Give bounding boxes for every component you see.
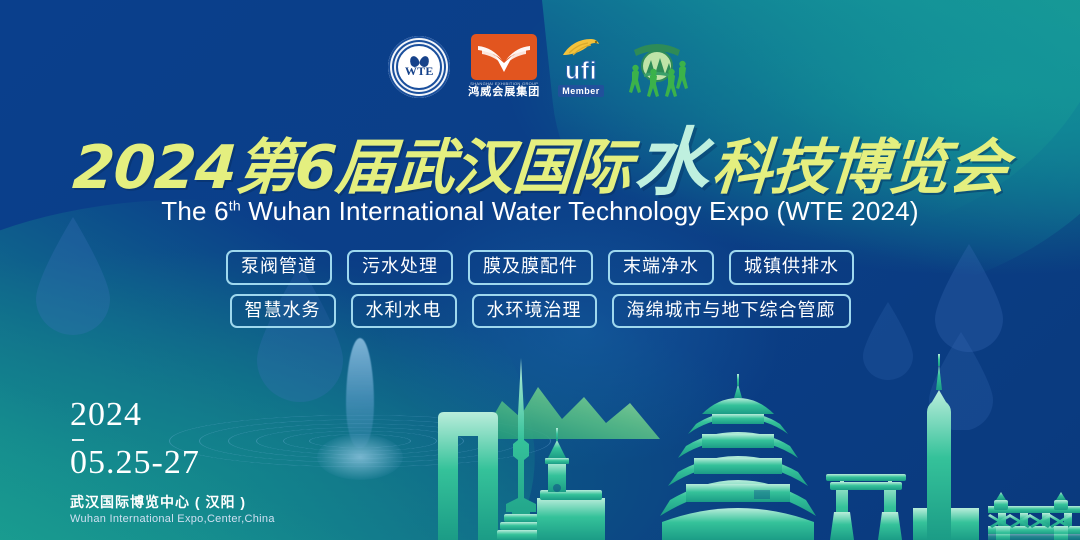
event-date-block: 2024 05.25-27 武汉国际博览中心 ( 汉阳 ) Wuhan Inte… [70, 398, 275, 525]
subtitle-rest: Wuhan International Water Technology Exp… [241, 196, 919, 226]
event-year: 2024 [70, 398, 275, 432]
venue-name-en: Wuhan International Expo,Center,China [70, 513, 275, 525]
tag-pump-valve-pipeline[interactable]: 泵阀管道 [226, 250, 332, 285]
headline: 2024第6届武汉国际水科技博览会 [0, 126, 1080, 200]
venue-name-cn: 武汉国际博览中心 ( 汉阳 ) [70, 492, 275, 512]
expo-poster: WTE SHANGHAI EXHIBITION GROUP 鸿威会展集团 [0, 0, 1080, 540]
headline-water-char: 水 [628, 126, 714, 200]
tag-sponge-city-utility-tunnel[interactable]: 海绵城市与地下综合管廊 [612, 294, 851, 329]
wings-mark-icon [476, 40, 532, 74]
tag-smart-water[interactable]: 智慧水务 [230, 294, 336, 329]
category-tags: 泵阀管道 污水处理 膜及膜配件 末端净水 城镇供排水 智慧水务 水利水电 水环境… [0, 250, 1080, 328]
tag-water-environment-governance[interactable]: 水环境治理 [472, 294, 597, 329]
hongwei-logo: SHANGHAI EXHIBITION GROUP 鸿威会展集团 [468, 34, 540, 100]
ufi-member-badge: Member [558, 85, 604, 97]
ufi-logo: ufi Member [558, 37, 604, 97]
event-dates: 05.25-27 [70, 446, 275, 480]
green-association-logo [622, 36, 692, 98]
wte-logo: WTE [388, 36, 450, 98]
date-divider [72, 439, 84, 441]
tag-sewage-treatment[interactable]: 污水处理 [347, 250, 453, 285]
wte-roundel-icon: WTE [388, 36, 450, 98]
hongwei-wings-icon [471, 34, 537, 80]
wte-logo-text: WTE [405, 65, 434, 77]
ufi-bird-icon [561, 37, 601, 59]
headline-part-1: 2024第6届武汉国际 [71, 138, 633, 198]
subtitle: The 6th Wuhan International Water Techno… [0, 196, 1080, 227]
category-tags-row-2: 智慧水务 水利水电 水环境治理 海绵城市与地下综合管廊 [230, 294, 851, 329]
green-figures-emblem-icon [622, 36, 692, 98]
tag-membranes-and-parts[interactable]: 膜及膜配件 [468, 250, 593, 285]
ufi-logo-text: ufi [565, 60, 597, 84]
headline-part-2: 科技博览会 [710, 138, 1009, 198]
sponsor-logo-row: WTE SHANGHAI EXHIBITION GROUP 鸿威会展集团 [0, 34, 1080, 100]
category-tags-row-1: 泵阀管道 污水处理 膜及膜配件 末端净水 城镇供排水 [226, 250, 854, 285]
tag-terminal-water-purification[interactable]: 末端净水 [608, 250, 714, 285]
hongwei-logo-cn: 鸿威会展集团 [468, 86, 540, 99]
tag-urban-water-supply-drainage[interactable]: 城镇供排水 [729, 250, 854, 285]
subtitle-prefix: The 6 [161, 196, 229, 226]
subtitle-ordinal: th [229, 197, 241, 213]
tag-water-conservancy-hydropower[interactable]: 水利水电 [351, 294, 457, 329]
